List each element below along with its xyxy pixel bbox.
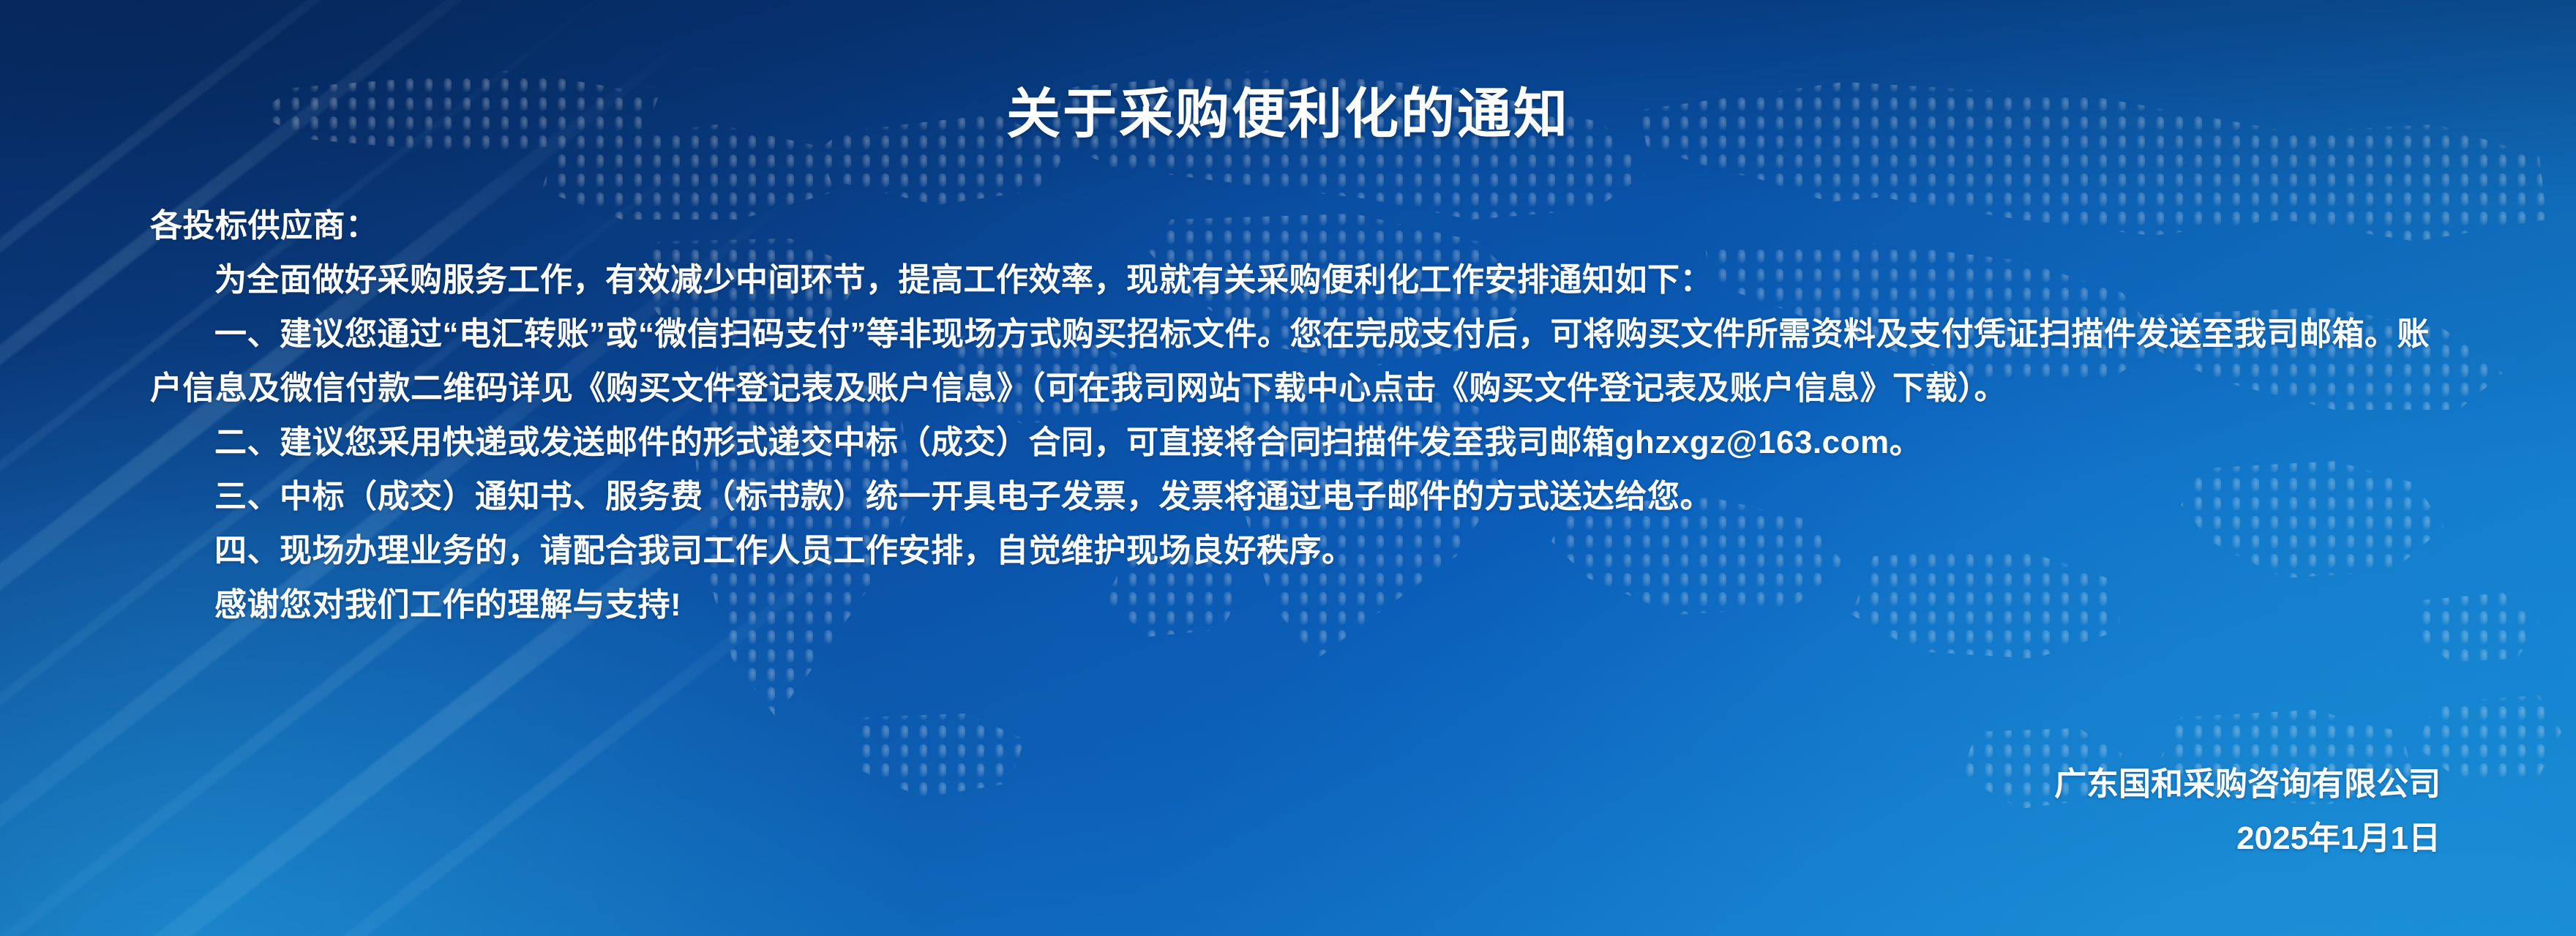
notice-body: 各投标供应商： 为全面做好采购服务工作，有效减少中间环节，提高工作效率，现就有关… [150,199,2459,632]
notice-banner: 关于采购便利化的通知 各投标供应商： 为全面做好采购服务工作，有效减少中间环节，… [0,0,2576,936]
paragraph-item-3: 三、中标（成交）通知书、服务费（标书款）统一开具电子发票，发票将通过电子邮件的方… [150,470,2459,524]
paragraph-intro: 为全面做好采购服务工作，有效减少中间环节，提高工作效率，现就有关采购便利化工作安… [150,253,2459,307]
paragraph-item-4: 四、现场办理业务的，请配合我司工作人员工作安排，自觉维护现场良好秩序。 [150,524,2459,578]
paragraph-closing: 感谢您对我们工作的理解与支持! [150,578,2459,632]
signature-block: 广东国和采购咨询有限公司 2025年1月1日 [2054,757,2441,866]
page-title: 关于采购便利化的通知 [0,70,2576,149]
paragraph-item-1: 一、建议您通过“电汇转账”或“微信扫码支付”等非现场方式购买招标文件。您在完成支… [150,307,2459,416]
company-name: 广东国和采购咨询有限公司 [2054,757,2441,812]
issue-date: 2025年1月1日 [2054,812,2441,866]
banner-content: 关于采购便利化的通知 各投标供应商： 为全面做好采购服务工作，有效减少中间环节，… [0,0,2576,936]
salutation: 各投标供应商： [150,199,2459,253]
paragraph-item-2: 二、建议您采用快递或发送邮件的形式递交中标（成交）合同，可直接将合同扫描件发至我… [150,416,2459,470]
